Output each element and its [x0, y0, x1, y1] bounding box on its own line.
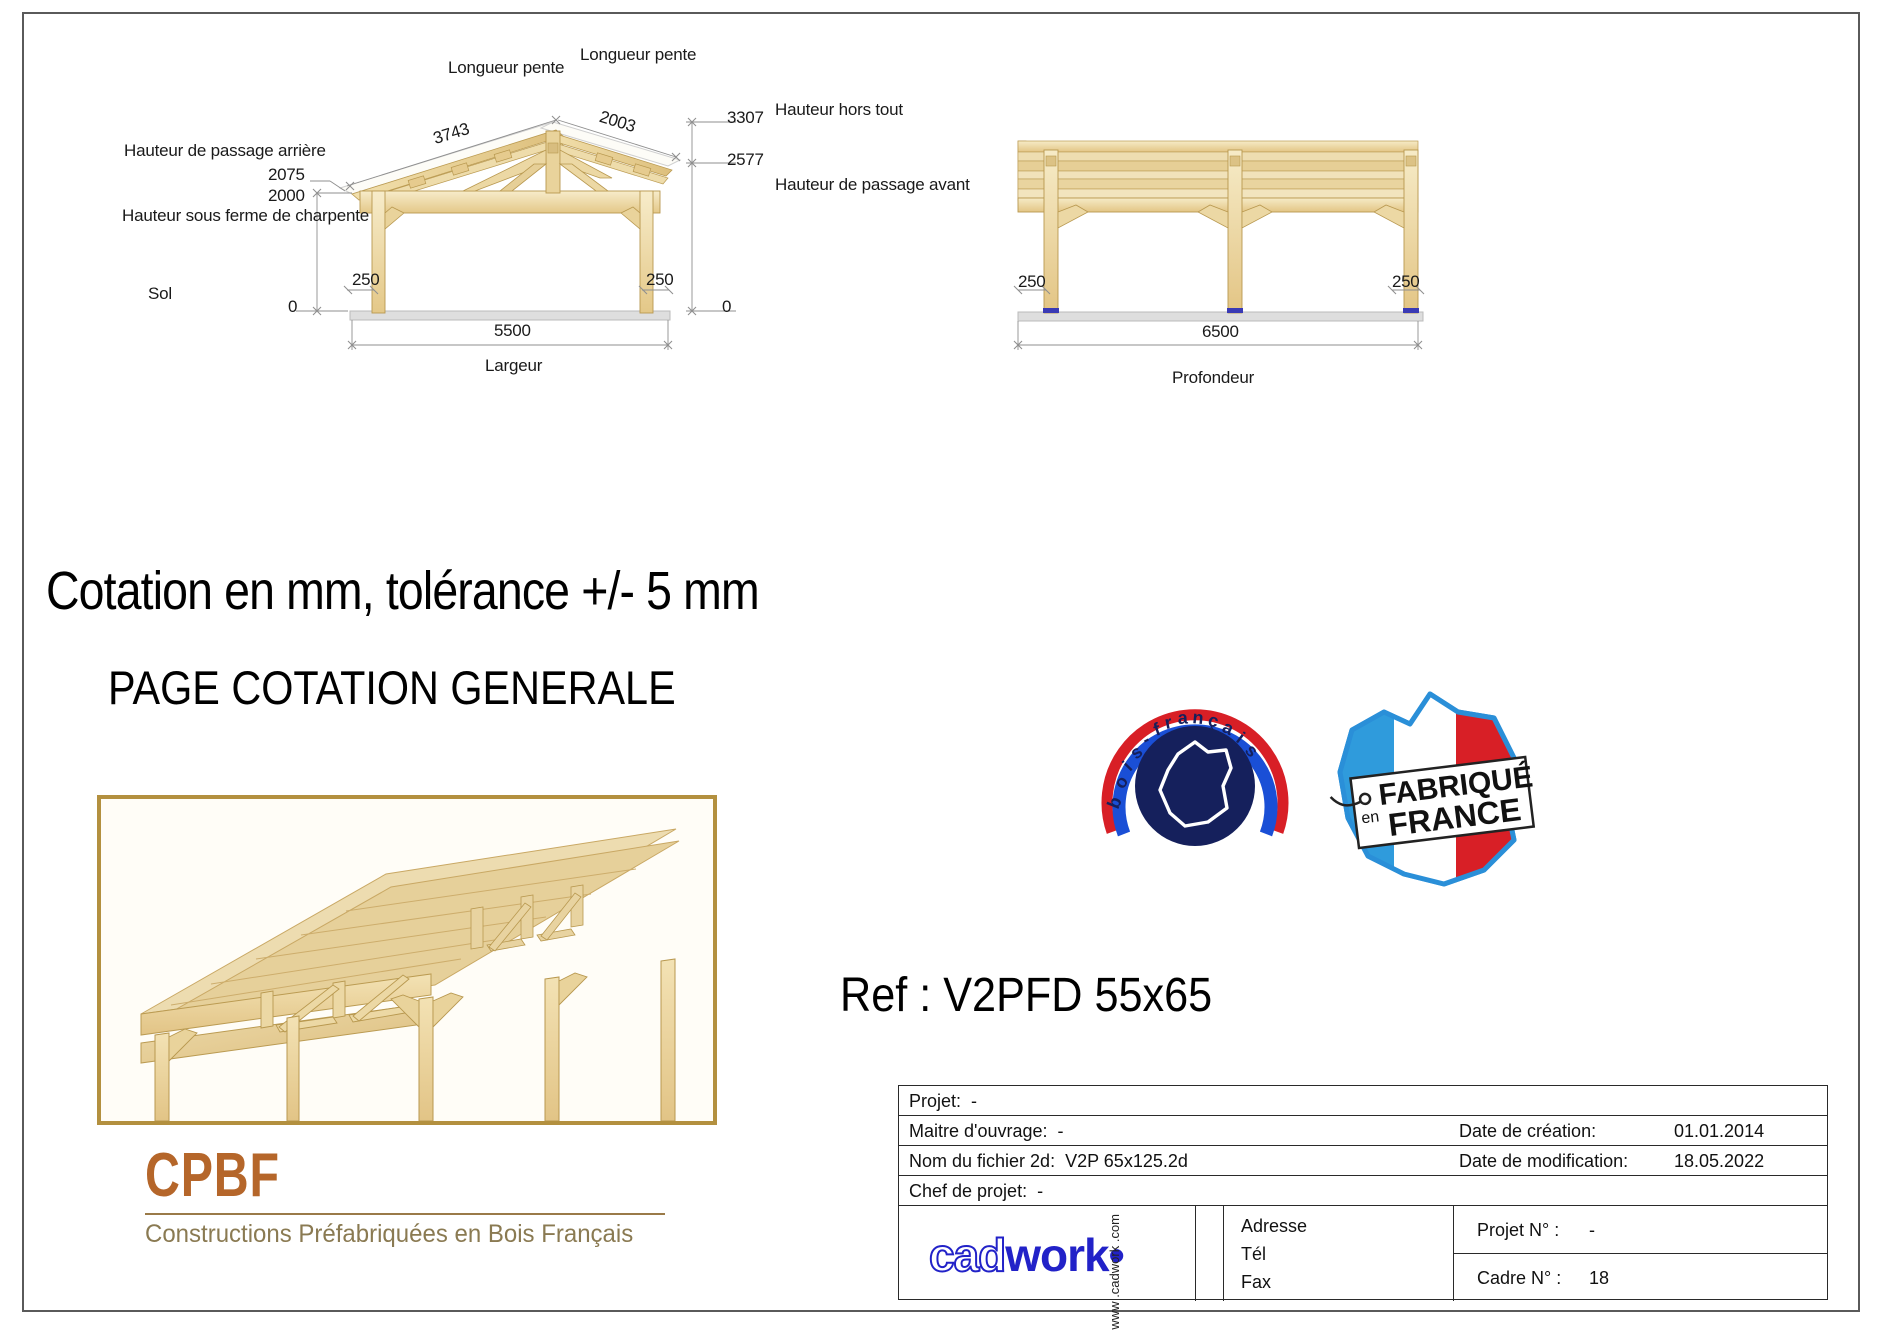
dim-post-offset-left: 250 [352, 270, 379, 290]
title-block-row-maitre: Maitre d'ouvrage: - Date de création: 01… [899, 1116, 1827, 1146]
side-elevation-view [960, 0, 1880, 420]
divider-4 [1453, 1253, 1827, 1254]
nom-fichier-value: V2P 65x125.2d [1065, 1151, 1188, 1171]
dim-depth: 6500 [1202, 322, 1239, 342]
divider-2 [1223, 1206, 1224, 1301]
cpbf-logo: CPBF Constructions Préfabriquées en Bois… [145, 1140, 675, 1249]
overall-height-label: Hauteur hors tout [775, 100, 903, 120]
projet-no-label: Projet N° : [1477, 1220, 1559, 1241]
date-modification-label: Date de modification: [1459, 1151, 1628, 1171]
carport-3d-render [101, 799, 713, 1121]
adresse-label: Adresse [1241, 1216, 1307, 1237]
title-block: Projet: - Maitre d'ouvrage: - Date de cr… [898, 1085, 1828, 1300]
cadre-no-label: Cadre N° : [1477, 1268, 1561, 1289]
under-truss-height-label: Hauteur sous ferme de charpente [122, 206, 369, 226]
fabrique-en-text: en [1360, 808, 1380, 827]
dim-front-passage-height: 2577 [727, 150, 764, 170]
cadwork-logo-hollow: cad [929, 1229, 1005, 1281]
dim-post-offset-right: 250 [646, 270, 673, 290]
ground-label: Sol [148, 284, 172, 304]
bois-francais-icon: b o i s - f r a n ç a i s [1090, 682, 1300, 892]
dim-side-post-offset-left: 250 [1018, 272, 1045, 292]
maitre-ouvrage-value: - [1058, 1121, 1064, 1141]
slope-left-label: Longueur pente [448, 58, 564, 78]
dim-ground-left: 0 [288, 297, 297, 317]
tolerance-heading: Cotation en mm, tolérance +/- 5 mm [46, 560, 759, 622]
product-image-box [97, 795, 717, 1125]
projet-label: Projet: [909, 1091, 961, 1111]
rear-passage-height-label: Hauteur de passage arrière [124, 141, 326, 161]
dim-rear-passage-height: 2075 [268, 165, 305, 185]
cadwork-website: www .cadwork .com [1107, 1214, 1122, 1330]
fax-label: Fax [1241, 1272, 1271, 1293]
date-creation-label: Date de création: [1459, 1121, 1596, 1141]
bois-francais-badge: b o i s - f r a n ç a i s [1090, 682, 1300, 892]
reference-label: Ref : V2PFD 55x65 [840, 968, 1212, 1023]
dim-overall-height: 3307 [727, 108, 764, 128]
front-passage-height-label: Hauteur de passage avant [775, 175, 970, 195]
svg-text:n: n [1192, 707, 1205, 728]
nom-fichier-label: Nom du fichier 2d: [909, 1151, 1055, 1171]
maitre-ouvrage-label: Maitre d'ouvrage: [909, 1121, 1048, 1141]
cadwork-logo: cadwork• [929, 1228, 1124, 1282]
title-block-bottom: cadwork• www .cadwork .com Adresse Tél F… [899, 1206, 1827, 1301]
slope-right-label: Longueur pente [580, 45, 696, 65]
cadre-no-value: 18 [1589, 1268, 1609, 1289]
divider-1 [1195, 1206, 1196, 1301]
title-block-row-projet: Projet: - [899, 1086, 1827, 1116]
depth-label: Profondeur [1172, 368, 1254, 388]
dim-ground-right: 0 [722, 297, 731, 317]
cadwork-logo-solid: work [1005, 1229, 1108, 1281]
width-label: Largeur [485, 356, 542, 376]
projet-no-value: - [1589, 1220, 1595, 1241]
projet-value: - [971, 1091, 977, 1111]
date-creation-value: 01.01.2014 [1674, 1121, 1764, 1141]
fabrique-en-france-badge: FABRIQUÉ en FRANCE [1318, 672, 1548, 904]
side-elevation-svg [960, 0, 1880, 420]
title-block-row-chef: Chef de projet: - [899, 1176, 1827, 1206]
cpbf-subtitle: Constructions Préfabriquées en Bois Fran… [145, 1220, 654, 1249]
date-modification-value: 18.05.2022 [1674, 1151, 1764, 1171]
chef-projet-label: Chef de projet: [909, 1181, 1027, 1201]
title-block-row-fichier: Nom du fichier 2d: V2P 65x125.2d Date de… [899, 1146, 1827, 1176]
dim-width: 5500 [494, 321, 531, 341]
dim-side-post-offset-right: 250 [1392, 272, 1419, 292]
chef-projet-value: - [1037, 1181, 1043, 1201]
fabrique-en-france-icon: FABRIQUÉ en FRANCE [1318, 672, 1548, 904]
dim-under-truss-height: 2000 [268, 186, 305, 206]
tel-label: Tél [1241, 1244, 1266, 1265]
cpbf-divider [145, 1213, 665, 1215]
cpbf-title: CPBF [145, 1140, 558, 1211]
page-title: PAGE COTATION GENERALE [108, 660, 676, 715]
drawing-sheet: Longueur pente Longueur pente Hauteur de… [0, 0, 1880, 1331]
